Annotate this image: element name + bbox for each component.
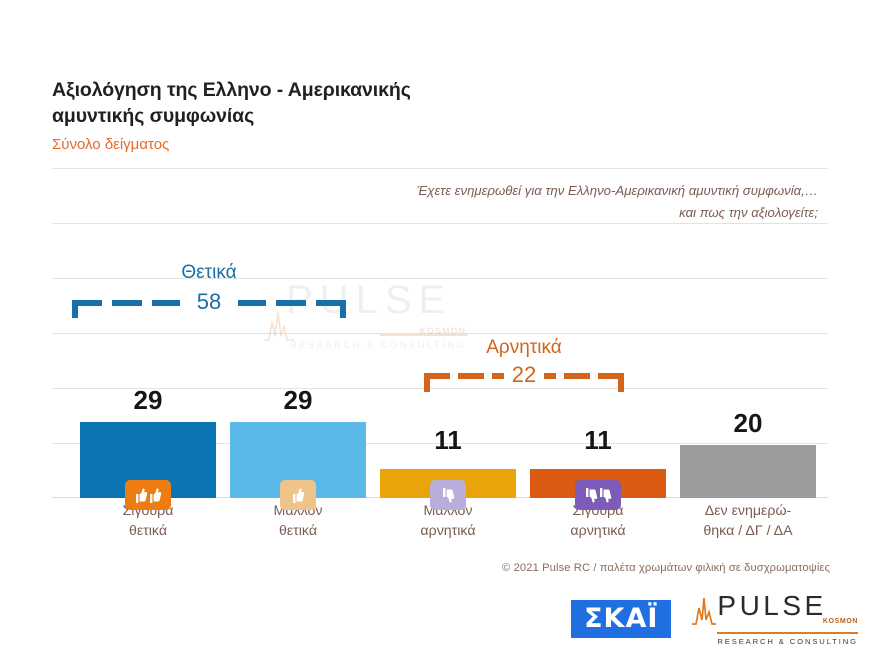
bar-group-1[interactable]: 29 — [230, 168, 366, 498]
thumbs-up-icon — [149, 487, 162, 504]
thumbs-up-icon — [292, 487, 305, 504]
chart-page: Αξιολόγηση της Ελληνο - Αμερικανικής αμυ… — [0, 0, 880, 660]
bar-value-label: 11 — [380, 427, 516, 453]
skai-logo: ΣΚΑΪ — [571, 600, 671, 638]
pulse-logo-rule — [717, 632, 858, 634]
logo-bar: ΣΚΑΪ PULSE KOSMON RESEARCH & CONSULTING — [571, 595, 858, 643]
thumbs-up-icon — [135, 487, 148, 504]
pulse-waveform-icon — [691, 594, 717, 632]
thumbs-down-single-icon — [430, 480, 466, 510]
bar-group-4[interactable]: 20 — [680, 168, 816, 498]
pulse-logo-subtitle: RESEARCH & CONSULTING — [717, 637, 858, 646]
thumbs-down-icon — [599, 487, 612, 504]
bar-series: 29 29 — [52, 168, 828, 498]
thumbs-down-icon — [585, 487, 598, 504]
bar-value-label: 11 — [530, 427, 666, 453]
bar-rect[interactable] — [680, 445, 816, 498]
pulse-logo-word: PULSE — [717, 592, 858, 620]
bar-group-2[interactable]: 11 — [380, 168, 516, 498]
chart-header: Αξιολόγηση της Ελληνο - Αμερικανικής αμυ… — [52, 78, 752, 154]
thumbs-down-double-icon — [575, 480, 621, 510]
thumbs-down-icon — [442, 487, 455, 504]
bar-value-label: 20 — [680, 410, 816, 436]
pulse-logo: PULSE KOSMON RESEARCH & CONSULTING — [687, 592, 858, 646]
page-title: Αξιολόγηση της Ελληνο - Αμερικανικής αμυ… — [52, 78, 752, 130]
bar-group-3[interactable]: 11 — [530, 168, 666, 498]
bar-group-0[interactable]: 29 — [80, 168, 216, 498]
bar-value-label: 29 — [230, 387, 366, 413]
chart-subtitle: Σύνολο δείγματος — [52, 136, 752, 154]
pulse-logo-kosmon: KOSMON — [823, 618, 858, 625]
annotation-negative-value: 22 — [505, 364, 543, 386]
annotation-positive-value: 58 — [190, 291, 228, 313]
thumbs-up-double-icon — [125, 480, 171, 510]
thumbs-up-single-icon — [280, 480, 316, 510]
bar-value-label: 29 — [80, 387, 216, 413]
copyright-note: © 2021 Pulse RC / παλέτα χρωμάτων φιλική… — [502, 562, 830, 574]
category-label-4: Δεν ενημερώ- θηκα / ΔΓ / ΔΑ — [673, 502, 823, 541]
